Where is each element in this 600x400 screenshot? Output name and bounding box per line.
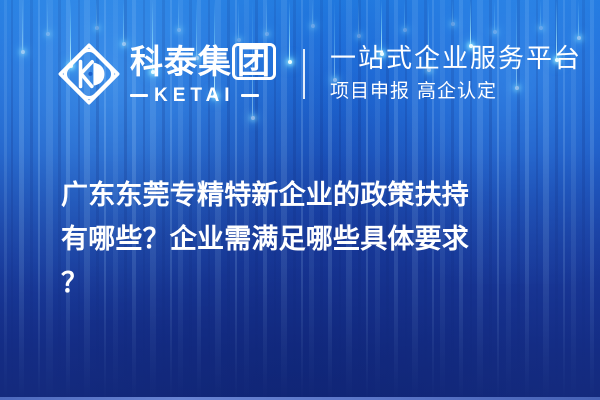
brand-logo[interactable]: 科泰集团 KETAI — [57, 42, 276, 106]
logo-rule-left — [130, 94, 148, 97]
page-title-line-1: 广东东莞专精特新企业的政策扶持 — [61, 180, 469, 211]
tagline-primary: 一站式企业服务平台 — [330, 45, 582, 74]
ketai-diamond-kd-monogram-icon — [57, 42, 121, 106]
logo-english-name: KETAI — [154, 86, 235, 105]
banner-header: 科泰集团 KETAI 一站式企业服务平台 项目申报 高企认定 — [0, 0, 600, 148]
logo-chinese-name-text: 科泰集 — [130, 42, 232, 81]
promo-banner: 科泰集团 KETAI 一站式企业服务平台 项目申报 高企认定 广东东莞专精特新企… — [0, 0, 600, 400]
logo-english-row: KETAI — [130, 86, 276, 105]
header-tagline: 一站式企业服务平台 项目申报 高企认定 — [330, 45, 582, 103]
tagline-secondary: 项目申报 高企认定 — [330, 80, 582, 103]
logo-chinese-name-boxed-char: 团 — [232, 43, 276, 80]
logo-rule-right — [241, 94, 259, 97]
page-title: 广东东莞专精特新企业的政策扶持有哪些？企业需满足哪些具体要求？ — [61, 174, 555, 306]
page-title-line-3: ？ — [61, 268, 88, 299]
page-title-line-2: 有哪些？企业需满足哪些具体要求 — [61, 224, 469, 255]
logo-chinese-name: 科泰集团 — [130, 43, 276, 80]
logo-wordmark: 科泰集团 KETAI — [130, 43, 276, 105]
header-divider — [303, 49, 305, 99]
